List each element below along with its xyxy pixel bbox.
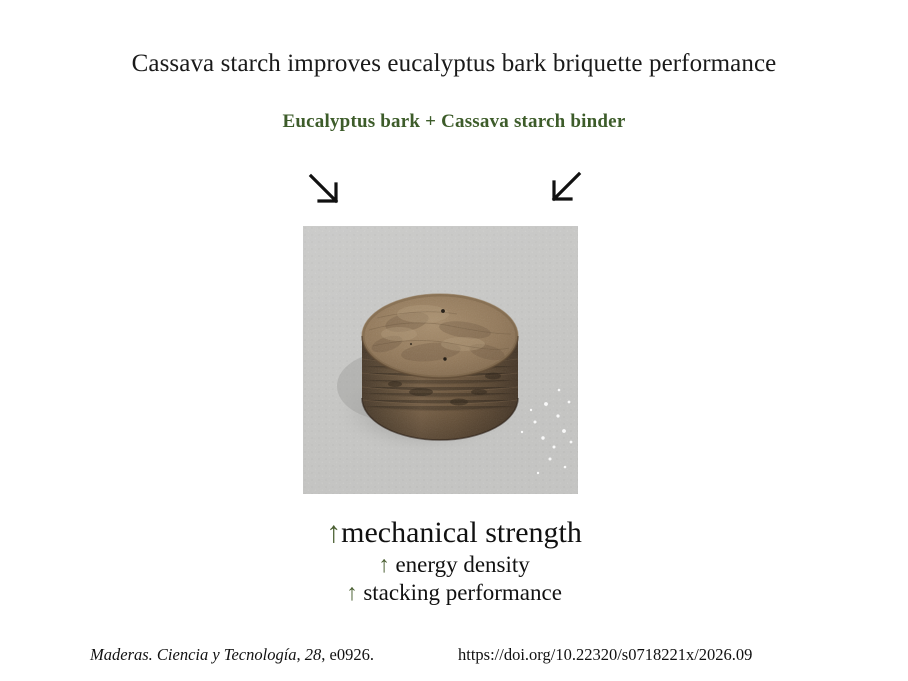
- benefit-item: ↑ energy density: [0, 553, 908, 576]
- benefit-label: energy density: [395, 552, 529, 577]
- subtitle: Eucalyptus bark + Cassava starch binder: [0, 111, 908, 133]
- arrow-up-icon: ↑: [378, 552, 390, 577]
- arrow-down-left-icon: [545, 168, 585, 208]
- benefit-item: ↑ stacking performance: [0, 581, 908, 604]
- citation-comma: ,: [297, 645, 305, 664]
- journal-name: Maderas. Ciencia y Tecnología: [90, 645, 297, 664]
- arrow-down-right-icon: [305, 170, 345, 210]
- article-number: , e0926.: [321, 645, 374, 664]
- journal-volume: 28: [305, 645, 322, 664]
- arrow-row: [0, 168, 908, 212]
- briquette-photo: [303, 226, 578, 494]
- graphical-abstract-slide: Cassava starch improves eucalyptus bark …: [0, 0, 908, 681]
- page-title: Cassava starch improves eucalyptus bark …: [0, 50, 908, 78]
- benefit-item: ↑mechanical strength: [0, 518, 908, 548]
- footer: Maderas. Ciencia y Tecnología, 28, e0926…: [0, 645, 908, 669]
- arrow-up-icon: ↑: [326, 516, 341, 549]
- benefit-label: mechanical strength: [341, 516, 582, 549]
- benefits-list: ↑mechanical strength ↑ energy density ↑ …: [0, 518, 908, 604]
- journal-citation: Maderas. Ciencia y Tecnología, 28, e0926…: [90, 645, 374, 665]
- doi-link[interactable]: https://doi.org/10.22320/s0718221x/2026.…: [458, 645, 752, 665]
- arrow-up-icon: ↑: [346, 580, 358, 605]
- benefit-label: stacking performance: [363, 580, 562, 605]
